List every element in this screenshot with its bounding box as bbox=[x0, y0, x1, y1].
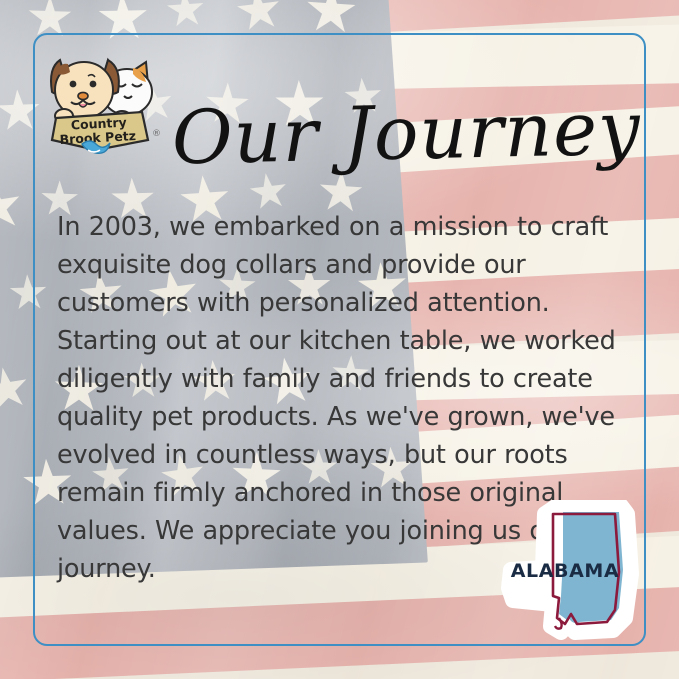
registered-trademark-icon: ® bbox=[152, 129, 160, 139]
state-shape-fill bbox=[559, 512, 623, 622]
country-brook-petz-logo: Country Brook Petz ® bbox=[38, 40, 160, 160]
journey-graphic: Country Brook Petz ® Our Journey In 2003… bbox=[0, 0, 679, 679]
alabama-state-sticker: ALABAMA bbox=[497, 500, 643, 642]
page-title: Our Journey bbox=[171, 82, 593, 191]
logo-banner: Country Brook Petz bbox=[52, 112, 148, 150]
